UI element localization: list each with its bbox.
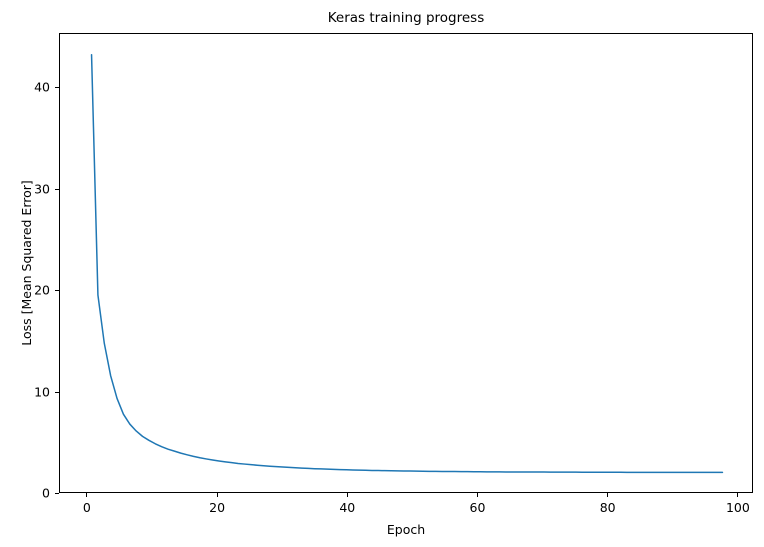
xtick-mark-20 <box>217 493 218 497</box>
loss-line-series <box>92 55 723 473</box>
xtick-label-80: 80 <box>600 500 616 515</box>
ytick-mark-30 <box>55 189 59 190</box>
y-axis-label: Loss [Mean Squared Error] <box>18 33 36 493</box>
loss-curve-svg <box>60 34 754 494</box>
matplotlib-figure: Keras training progress 0 10 20 30 40 0 … <box>0 0 764 547</box>
plot-axes-frame <box>59 33 753 493</box>
xtick-mark-40 <box>347 493 348 497</box>
ytick-mark-20 <box>55 290 59 291</box>
xtick-label-0: 0 <box>83 500 91 515</box>
xtick-mark-0 <box>86 493 87 497</box>
xtick-label-100: 100 <box>726 500 750 515</box>
xtick-label-20: 20 <box>209 500 225 515</box>
x-axis-label: Epoch <box>59 522 753 537</box>
xtick-mark-60 <box>477 493 478 497</box>
ytick-mark-10 <box>55 392 59 393</box>
chart-title: Keras training progress <box>59 10 753 26</box>
xtick-mark-80 <box>607 493 608 497</box>
xtick-label-40: 40 <box>339 500 355 515</box>
ytick-mark-0 <box>55 493 59 494</box>
xtick-label-60: 60 <box>470 500 486 515</box>
xtick-mark-100 <box>737 493 738 497</box>
ytick-mark-40 <box>55 87 59 88</box>
